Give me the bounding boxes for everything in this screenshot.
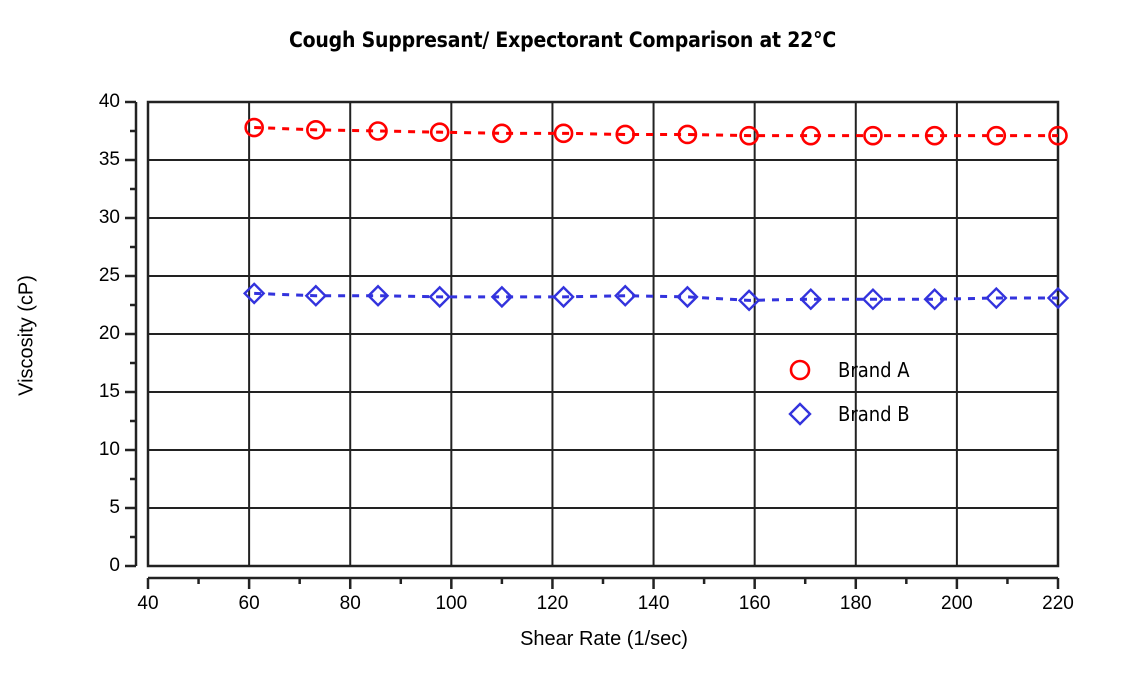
series-brand-a	[246, 119, 1067, 144]
x-tick-label: 80	[320, 594, 380, 613]
x-tick-label: 140	[624, 594, 684, 613]
legend-label: Brand A	[838, 358, 910, 382]
y-tick-label: 30	[0, 208, 120, 227]
x-tick-label: 220	[1028, 594, 1088, 613]
x-tick-label: 100	[421, 594, 481, 613]
y-tick-label: 35	[0, 150, 120, 169]
y-tick-label: 40	[0, 92, 120, 111]
y-tick-label: 0	[0, 556, 120, 575]
y-tick-label: 20	[0, 324, 120, 343]
x-tick-label: 160	[725, 594, 785, 613]
x-tick-label: 60	[219, 594, 279, 613]
series-brand-b	[245, 284, 1068, 310]
legend-entry: Brand B	[790, 402, 910, 426]
chart-container: Cough Suppresant/ Expectorant Comparison…	[0, 0, 1125, 679]
series-line	[254, 293, 1058, 300]
x-tick-label: 120	[522, 594, 582, 613]
chart-title: Cough Suppresant/ Expectorant Comparison…	[0, 28, 1125, 52]
x-tick-label: 40	[118, 594, 178, 613]
axis-lines-and-ticks	[125, 102, 1058, 589]
legend-entry: Brand A	[791, 358, 910, 382]
y-tick-label: 5	[0, 498, 120, 517]
diamond-marker	[790, 404, 810, 424]
plot-area: Brand ABrand B	[0, 0, 1125, 679]
x-axis-title: Shear Rate (1/sec)	[148, 628, 1060, 651]
x-tick-label: 180	[826, 594, 886, 613]
data-series-layer	[245, 119, 1068, 310]
y-tick-label: 10	[0, 440, 120, 459]
legend-label: Brand B	[838, 402, 910, 426]
y-tick-label: 15	[0, 382, 120, 401]
circle-marker	[791, 361, 809, 379]
x-tick-label: 200	[927, 594, 987, 613]
gridlines	[148, 102, 1058, 566]
y-tick-label: 25	[0, 266, 120, 285]
